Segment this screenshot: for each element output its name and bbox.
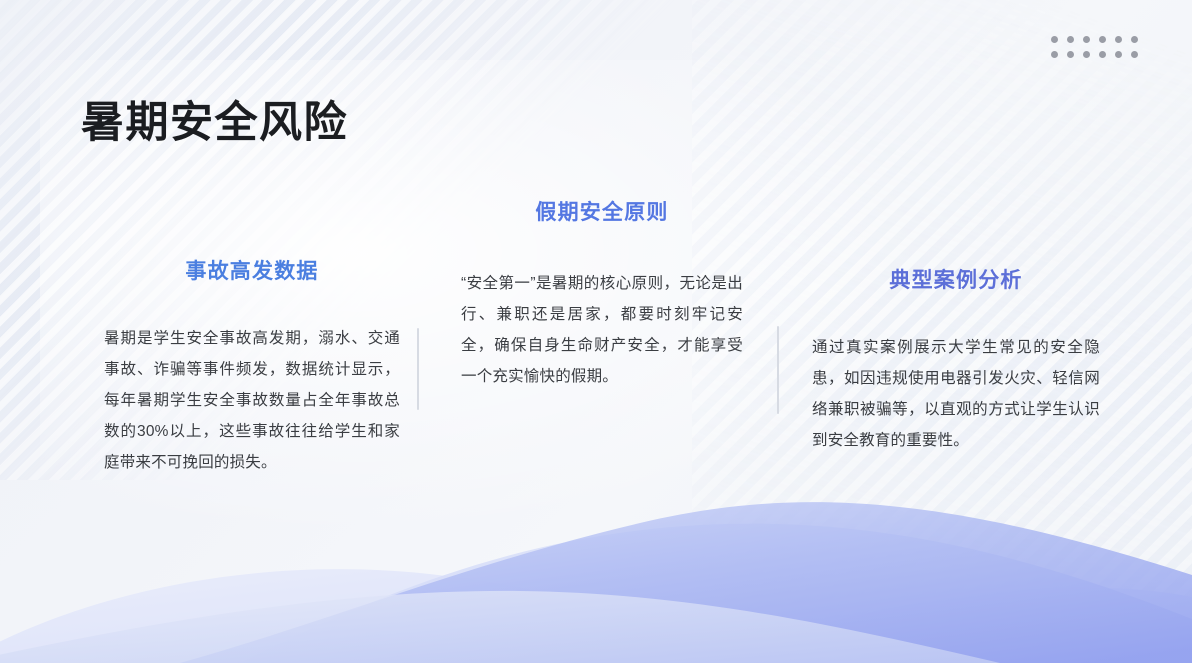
grid-dot	[1115, 36, 1122, 43]
grid-dot	[1067, 36, 1074, 43]
grid-dot	[1131, 36, 1138, 43]
column-body-accident-data: 暑期是学生安全事故高发期，溺水、交通事故、诈骗等事件频发，数据统计显示，每年暑期…	[104, 323, 400, 478]
page-title: 暑期安全风险	[81, 99, 348, 148]
content-column-safety-principle: 假期安全原则 “安全第一”是暑期的核心原则，无论是出行、兼职还是居家，都要时刻牢…	[461, 196, 743, 392]
column-heading-safety-principle: 假期安全原则	[461, 196, 743, 226]
column-body-case-analysis: 通过真实案例展示大学生常见的安全隐患，如因违规使用电器引发火灾、轻信网络兼职被骗…	[812, 332, 1100, 456]
grid-dot	[1099, 36, 1106, 43]
grid-dot	[1051, 51, 1058, 58]
grid-dot	[1067, 51, 1074, 58]
column-divider-2	[777, 326, 779, 414]
column-heading-case-analysis: 典型案例分析	[812, 264, 1100, 294]
grid-dot	[1083, 51, 1090, 58]
grid-dot	[1083, 36, 1090, 43]
grid-dot	[1051, 36, 1058, 43]
grid-dot	[1115, 51, 1122, 58]
column-divider-1	[417, 328, 419, 410]
column-body-safety-principle: “安全第一”是暑期的核心原则，无论是出行、兼职还是居家，都要时刻牢记安全，确保自…	[461, 268, 743, 392]
grid-dot	[1099, 51, 1106, 58]
content-column-accident-data: 事故高发数据 暑期是学生安全事故高发期，溺水、交通事故、诈骗等事件频发，数据统计…	[104, 255, 400, 478]
slide-canvas: 暑期安全风险 事故高发数据 暑期是学生安全事故高发期，溺水、交通事故、诈骗等事件…	[0, 0, 1192, 663]
content-column-case-analysis: 典型案例分析 通过真实案例展示大学生常见的安全隐患，如因违规使用电器引发火灾、轻…	[812, 264, 1100, 456]
column-heading-accident-data: 事故高发数据	[104, 255, 400, 285]
grid-dot	[1131, 51, 1138, 58]
dot-grid-decoration	[1051, 36, 1139, 59]
bottom-wave-decoration	[0, 463, 1192, 663]
